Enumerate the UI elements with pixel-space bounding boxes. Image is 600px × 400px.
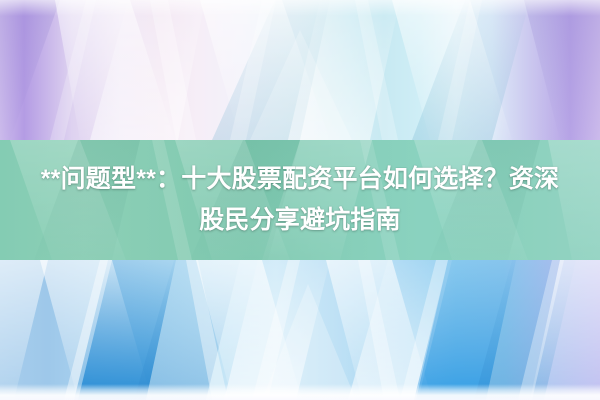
poster-title: **问题型**：十大股票配资平台如何选择？资深 股民分享避坑指南 [0,140,600,260]
bottom-blue-band [0,260,600,400]
bottom-light-sheen [0,384,600,400]
title-line-1: **问题型**：十大股票配资平台如何选择？资深 [41,159,560,200]
top-pastel-band [0,0,600,140]
bottom-facet-pattern [0,260,600,400]
top-light-sheen [0,0,600,16]
title-line-2: 股民分享避坑指南 [199,200,401,241]
poster-image: **问题型**：十大股票配资平台如何选择？资深 股民分享避坑指南 [0,0,600,400]
top-facet-pattern [0,0,600,140]
